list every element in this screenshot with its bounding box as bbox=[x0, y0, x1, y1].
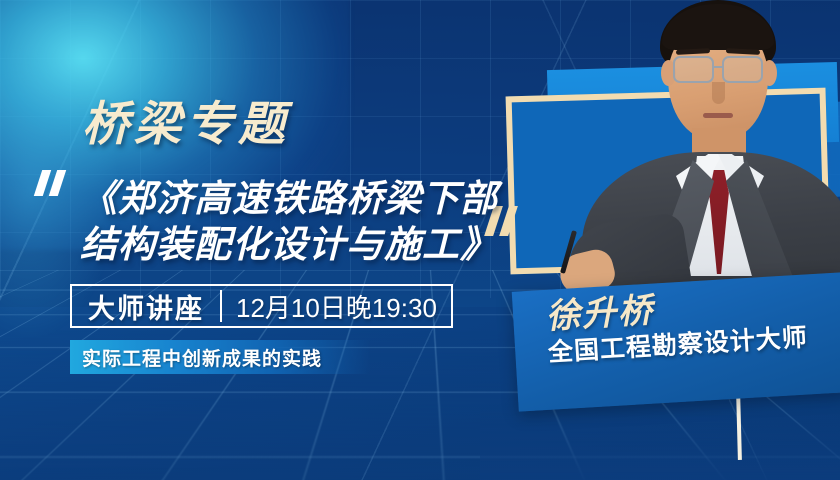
tagline-banner: 实际工程中创新成果的实践 bbox=[70, 340, 370, 374]
portrait-glasses-right-lens bbox=[722, 56, 763, 83]
book-title-line-1: 《郑济高速铁路桥梁下部 bbox=[80, 176, 500, 222]
lecture-label: 大师讲座 bbox=[72, 286, 220, 326]
page-title: 桥梁专题 bbox=[82, 100, 290, 147]
lecture-info-box: 大师讲座 12月10日晚19:30 bbox=[70, 284, 453, 328]
portrait-ear-right bbox=[762, 60, 777, 86]
portrait-mouth bbox=[703, 113, 733, 118]
portrait-glasses-bridge bbox=[714, 66, 723, 68]
lecture-poster: 徐升桥 全国工程勘察设计大师 桥梁专题 《郑济高速铁路桥梁下部 结构装配化设计与… bbox=[0, 0, 840, 480]
lecture-datetime: 12月10日晚19:30 bbox=[222, 286, 451, 326]
portrait-bottom-fade bbox=[480, 410, 840, 480]
book-title: 《郑济高速铁路桥梁下部 结构装配化设计与施工》 bbox=[80, 176, 500, 269]
portrait-nose bbox=[712, 82, 725, 104]
tagline-text: 实际工程中创新成果的实践 bbox=[70, 344, 322, 371]
portrait-glasses-left-lens bbox=[673, 56, 714, 83]
book-title-line-2: 结构装配化设计与施工》 bbox=[80, 222, 500, 268]
quote-open-icon bbox=[36, 170, 70, 196]
